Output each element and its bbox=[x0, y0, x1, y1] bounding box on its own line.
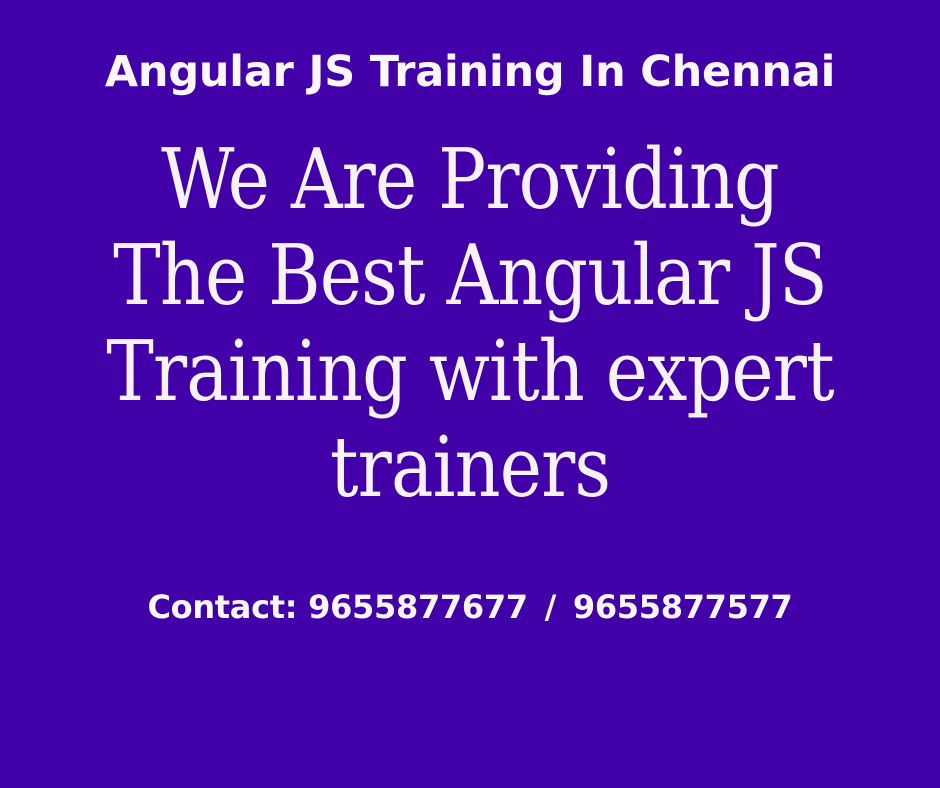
headline-line-1: We Are Providing bbox=[66, 132, 874, 228]
headline-block: We Are Providing The Best Angular JS Tra… bbox=[0, 132, 940, 516]
headline-line-3: Training with expert bbox=[66, 324, 874, 420]
contact-phone-primary[interactable]: 9655877677 bbox=[308, 588, 528, 626]
contact-label: Contact: bbox=[147, 588, 297, 626]
contact-separator: / bbox=[539, 588, 562, 626]
contact-phone-secondary[interactable]: 9655877577 bbox=[573, 588, 793, 626]
page-title: Angular JS Training In Chennai bbox=[0, 44, 940, 100]
headline-line-4: trainers bbox=[66, 420, 874, 516]
headline-line-2: The Best Angular JS bbox=[66, 228, 874, 324]
promo-poster: Angular JS Training In Chennai We Are Pr… bbox=[0, 0, 940, 788]
empty-bottom-area bbox=[0, 640, 940, 788]
contact-line: Contact: 9655877677 / 9655877577 bbox=[0, 586, 940, 628]
